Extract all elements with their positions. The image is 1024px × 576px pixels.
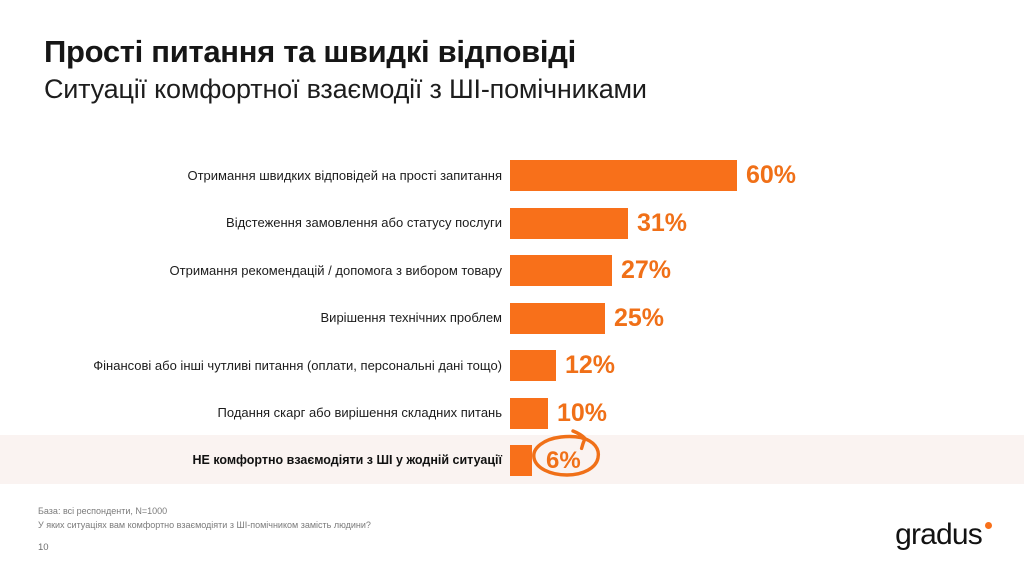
bar-zone: 27% xyxy=(510,247,1024,295)
bar-category-label: Подання скарг або вирішення складних пит… xyxy=(0,406,510,420)
page-number: 10 xyxy=(38,542,678,553)
bar-category-label: Отримання рекомендацій / допомога з вибо… xyxy=(0,264,510,278)
bar-category-label: Вирішення технічних проблем xyxy=(0,311,510,325)
bar-category-label: Фінансові або інші чутливі питання (опла… xyxy=(0,359,510,373)
page-title: Прості питання та швидкі відповіді xyxy=(44,34,944,71)
chart-row: Подання скарг або вирішення складних пит… xyxy=(0,390,1024,438)
slide: Прості питання та швидкі відповіді Ситуа… xyxy=(0,0,1024,576)
logo-dot-icon xyxy=(985,522,992,529)
bar xyxy=(510,350,556,381)
chart-row: Отримання швидких відповідей на прості з… xyxy=(0,152,1024,200)
bar-category-label: Отримання швидких відповідей на прості з… xyxy=(0,169,510,183)
bar-zone: 12% xyxy=(510,342,1024,390)
bar-zone: 25% xyxy=(510,295,1024,343)
bar-value-label: 31% xyxy=(637,211,687,236)
base-note: База: всі респонденти, N=1000 xyxy=(38,505,678,519)
bar xyxy=(510,398,548,429)
bar xyxy=(510,255,612,286)
bar-value-label: 25% xyxy=(614,306,664,331)
bar xyxy=(510,160,737,191)
bar-value-label: 27% xyxy=(621,258,671,283)
bar xyxy=(510,303,605,334)
bar-value-label: 6% xyxy=(546,449,581,473)
page-subtitle: Ситуації комфортної взаємодії з ШІ-поміч… xyxy=(44,73,944,105)
bar-category-label: НЕ комфортно взаємодіяти з ШІ у жодній с… xyxy=(0,454,510,468)
bar-chart: Отримання швидких відповідей на прості з… xyxy=(0,152,1024,485)
bar-value-label: 60% xyxy=(746,163,796,188)
bar-category-label: Відстеження замовлення або статусу послу… xyxy=(0,216,510,230)
chart-row-highlighted: НЕ комфортно взаємодіяти з ШІ у жодній с… xyxy=(0,437,1024,485)
gradus-logo: gradus xyxy=(895,520,992,550)
header: Прості питання та швидкі відповіді Ситуа… xyxy=(44,34,944,105)
chart-row: Відстеження замовлення або статусу послу… xyxy=(0,200,1024,248)
bar xyxy=(510,445,532,476)
bar xyxy=(510,208,628,239)
chart-row: Вирішення технічних проблем 25% xyxy=(0,295,1024,343)
bar-value-label: 10% xyxy=(557,401,607,426)
bar-zone: 6% xyxy=(510,437,1024,485)
bar-value-label: 12% xyxy=(565,353,615,378)
bar-zone: 31% xyxy=(510,200,1024,248)
chart-row: Фінансові або інші чутливі питання (опла… xyxy=(0,342,1024,390)
footer: База: всі респонденти, N=1000 У яких сит… xyxy=(38,505,678,553)
logo-wordmark: gradus xyxy=(895,520,982,550)
bar-zone: 60% xyxy=(510,152,1024,200)
survey-question: У яких ситуаціях вам комфортно взаємодія… xyxy=(38,519,678,533)
chart-row: Отримання рекомендацій / допомога з вибо… xyxy=(0,247,1024,295)
bar-zone: 10% xyxy=(510,390,1024,438)
